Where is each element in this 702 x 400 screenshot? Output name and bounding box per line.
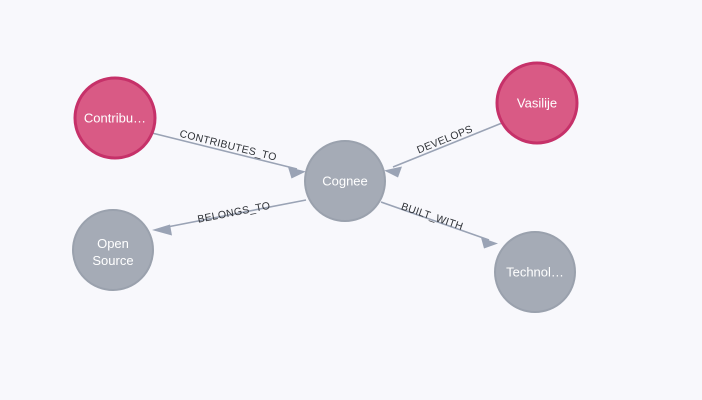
edge-built-with-arrowhead <box>481 238 498 249</box>
edge-belongs-to[interactable]: BELONGS_TO <box>152 200 306 236</box>
node-contributor[interactable]: Contribu… <box>75 78 155 158</box>
knowledge-graph[interactable]: CONTRIBUTES_TO DEVELOPS BELONGS_TO BUILT… <box>0 0 702 400</box>
graph-canvas[interactable]: CONTRIBUTES_TO DEVELOPS BELONGS_TO BUILT… <box>0 0 702 400</box>
node-cognee[interactable]: Cognee <box>305 141 385 221</box>
edge-develops-label: DEVELOPS <box>415 123 474 156</box>
node-open-source-label-line1: Open <box>97 236 129 251</box>
node-open-source-label-line2: Source <box>92 253 133 268</box>
edge-belongs-to-label: BELONGS_TO <box>196 200 271 226</box>
node-cognee-label: Cognee <box>322 173 368 188</box>
node-technology[interactable]: Technol… <box>495 232 575 312</box>
edge-built-with-label: BUILT_WITH <box>400 201 465 233</box>
edge-contributes-to[interactable]: CONTRIBUTES_TO <box>152 128 306 179</box>
edge-belongs-to-arrowhead <box>152 225 172 236</box>
node-contributor-label: Contribu… <box>84 110 146 125</box>
edge-develops[interactable]: DEVELOPS <box>384 123 502 178</box>
node-open-source[interactable]: Open Source <box>73 210 153 290</box>
edge-develops-arrowhead <box>384 167 402 178</box>
node-technology-label: Technol… <box>506 264 564 279</box>
node-vasilije[interactable]: Vasilije <box>497 63 577 143</box>
edge-contributes-to-label: CONTRIBUTES_TO <box>178 128 278 164</box>
edge-built-with[interactable]: BUILT_WITH <box>381 201 498 249</box>
node-vasilije-label: Vasilije <box>517 95 557 110</box>
node-layer: Contribu… Vasilije Cognee Open Source <box>73 63 577 312</box>
